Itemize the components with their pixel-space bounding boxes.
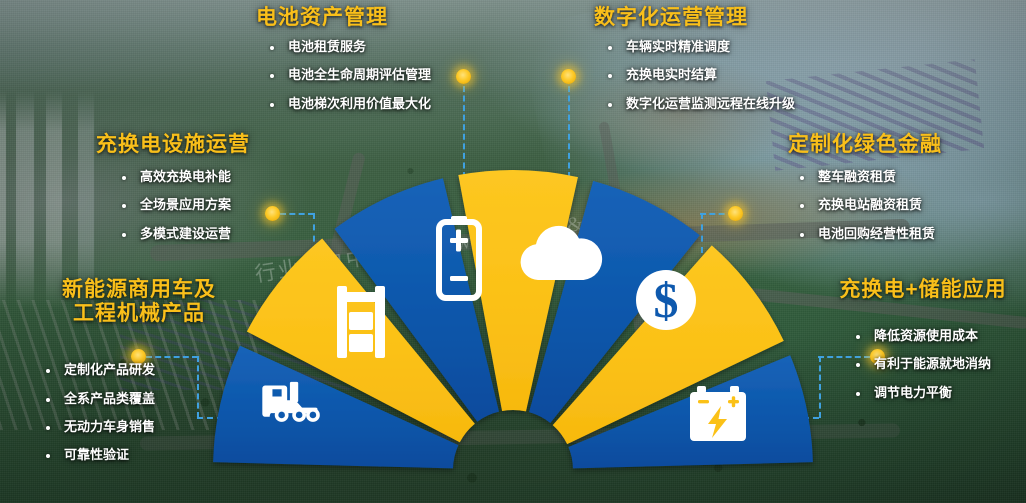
section-battery-asset: 电池资产管理 电池租赁服务 电池全生命周期评估管理 电池梯次利用价值最大化	[252, 6, 431, 112]
section-nev-products: 新能源商用车及 工程机械产品 定制化产品研发 全系产品类覆盖 无动力车身销售 可…	[30, 278, 248, 463]
section-digital-ops: 数字化运营管理 车辆实时精准调度 充换电实时结算 数字化运营监测远程在线升级	[590, 6, 795, 112]
list-item: 充换电站融资租赁	[794, 197, 942, 213]
section-green-finance: 定制化绿色金融 整车融资租赁 充换电站融资租赁 电池回购经营性租赁	[760, 133, 942, 242]
section-title-green-finance: 定制化绿色金融	[760, 133, 942, 157]
infographic-canvas: 行业客户中心&&liuwei.local&&刘威	[0, 0, 1026, 503]
section-title-line-2: 工程机械产品	[73, 302, 205, 325]
list-item: 定制化产品研发	[40, 362, 248, 378]
section-title-nev-products: 新能源商用车及 工程机械产品	[30, 278, 248, 326]
list-item: 无动力车身销售	[40, 419, 248, 435]
list-item: 全系产品类覆盖	[40, 391, 248, 407]
list-item: 降低资源使用成本	[850, 328, 1018, 344]
section-list-swap-storage: 降低资源使用成本 有利于能源就地消纳 调节电力平衡	[850, 328, 1018, 401]
swap-station-icon	[337, 286, 385, 358]
section-list-green-finance: 整车融资租赁 充换电站融资租赁 电池回购经营性租赁	[794, 169, 942, 242]
section-list-infra-ops: 高效充换电补能 全场景应用方案 多模式建设运营	[116, 169, 250, 242]
list-item: 电池租赁服务	[264, 39, 431, 55]
section-infra-ops: 充换电设施运营 高效充换电补能 全场景应用方案 多模式建设运营	[96, 133, 250, 242]
list-item: 全场景应用方案	[116, 197, 250, 213]
section-list-digital-ops: 车辆实时精准调度 充换电实时结算 数字化运营监测远程在线升级	[602, 39, 795, 112]
section-title-digital-ops: 数字化运营管理	[594, 6, 795, 30]
list-item: 整车融资租赁	[794, 169, 942, 185]
list-item: 电池全生命周期评估管理	[264, 67, 431, 83]
list-item: 高效充换电补能	[116, 169, 250, 185]
section-title-line-1: 新能源商用车及	[62, 278, 216, 301]
dollar-circle-icon: $	[636, 270, 696, 330]
section-list-battery-asset: 电池租赁服务 电池全生命周期评估管理 电池梯次利用价值最大化	[264, 39, 431, 112]
list-item: 有利于能源就地消纳	[850, 356, 1018, 372]
list-item: 数字化运营监测远程在线升级	[602, 96, 795, 112]
section-title-swap-storage: 充换电+储能应用	[828, 278, 1018, 302]
list-item: 充换电实时结算	[602, 67, 795, 83]
list-item: 可靠性验证	[40, 447, 248, 463]
list-item: 调节电力平衡	[850, 385, 1018, 401]
list-item: 电池梯次利用价值最大化	[264, 96, 431, 112]
list-item: 车辆实时精准调度	[602, 39, 795, 55]
section-title-infra-ops: 充换电设施运营	[96, 133, 250, 157]
svg-text:$: $	[654, 272, 679, 328]
list-item: 电池回购经营性租赁	[794, 226, 942, 242]
section-title-battery-asset: 电池资产管理	[256, 6, 431, 30]
section-swap-storage: 充换电+储能应用 降低资源使用成本 有利于能源就地消纳 调节电力平衡	[828, 278, 1018, 401]
car-battery-icon	[690, 386, 746, 441]
list-item: 多模式建设运营	[116, 226, 250, 242]
section-list-nev-products: 定制化产品研发 全系产品类覆盖 无动力车身销售 可靠性验证	[40, 362, 248, 463]
